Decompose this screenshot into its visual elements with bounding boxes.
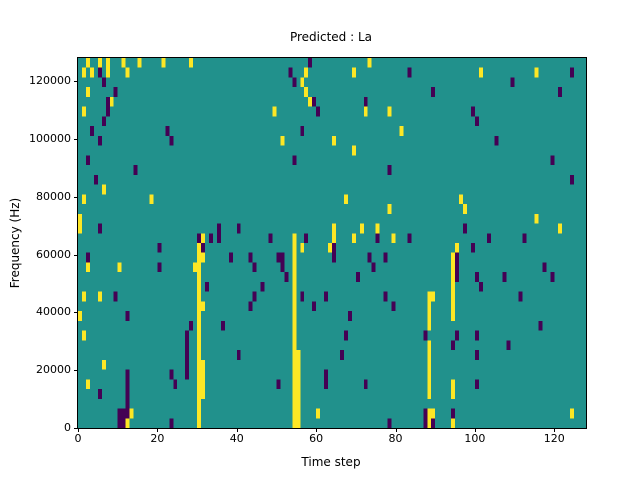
- matplotlib-figure: Predicted : La 0204060801001200200004000…: [0, 0, 640, 480]
- x-tick-label: 100: [455, 432, 495, 445]
- y-axis-label: Frequency (Hz): [8, 58, 22, 428]
- x-tick-label: 60: [296, 432, 336, 445]
- x-tick-label: 120: [534, 432, 574, 445]
- heatmap-image: [78, 58, 586, 428]
- page-title: Predicted : La: [77, 30, 585, 44]
- x-tick-label: 40: [217, 432, 257, 445]
- x-axis-label: Time step: [77, 455, 585, 469]
- heatmap-plot-area: [77, 57, 587, 429]
- x-tick-label: 80: [376, 432, 416, 445]
- x-tick-label: 0: [58, 432, 98, 445]
- x-tick-label: 20: [137, 432, 177, 445]
